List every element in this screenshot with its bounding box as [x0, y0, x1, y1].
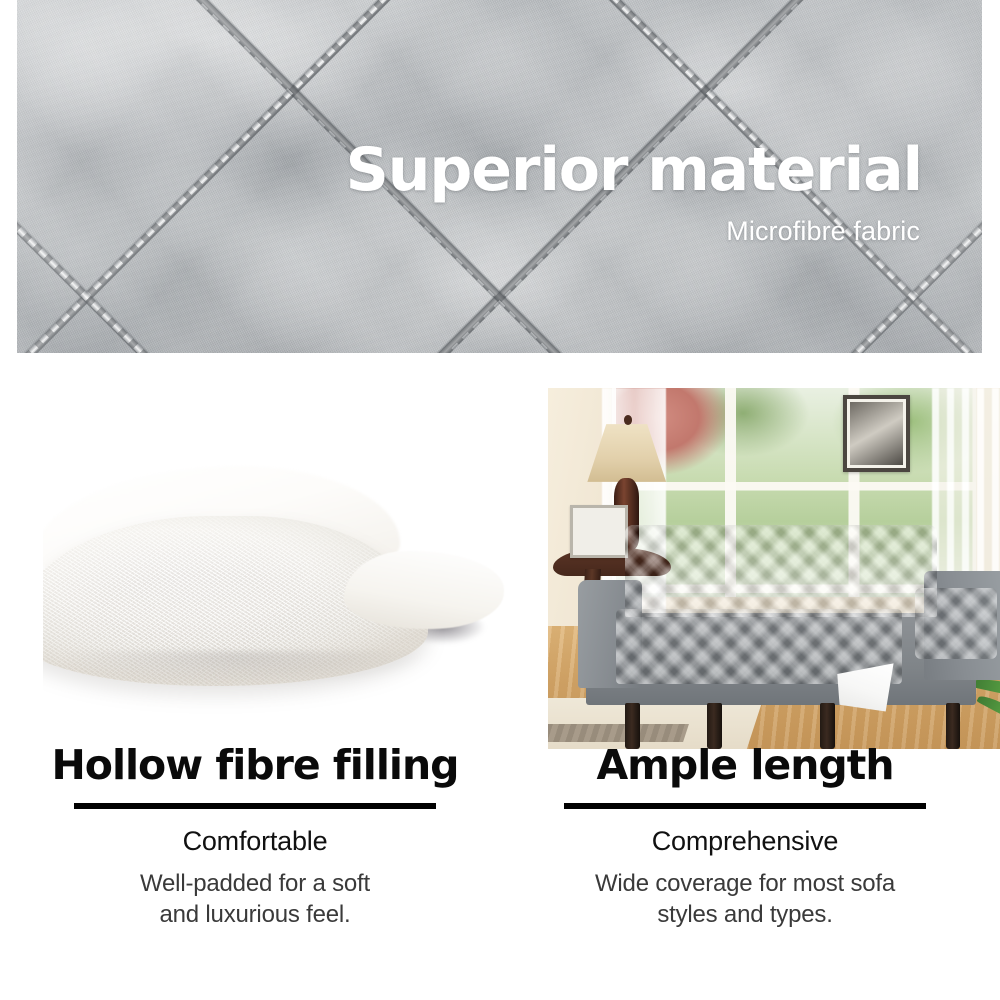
feature-subtitle: Comprehensive	[510, 827, 980, 857]
sofa-cover-arm-panel	[915, 588, 997, 659]
product-feature-page: Superior material Microfibre fabric	[0, 0, 1000, 1000]
sofa	[578, 525, 1000, 734]
hero-title: Superior material	[346, 140, 922, 200]
fibre-sheet-right-edge	[344, 551, 504, 629]
feature-block-ample-length: Ample length Comprehensive Wide coverage…	[510, 744, 980, 930]
feature-description-line: Well-padded for a soft	[140, 870, 370, 897]
hero-text-block: Superior material Microfibre fabric	[346, 140, 922, 245]
lamp-finial	[624, 415, 632, 424]
feature-divider-rule	[74, 803, 436, 809]
feature-block-hollow-fibre-filling: Hollow fibre filling Comfortable Well-pa…	[20, 744, 490, 930]
hero-banner: Superior material Microfibre fabric	[17, 0, 982, 353]
feature-title: Hollow fibre filling	[20, 744, 490, 787]
photo-row	[0, 372, 1000, 733]
sofa-cover-backrest	[625, 525, 937, 617]
sofa-cover-photo	[548, 388, 1000, 749]
feature-title: Ample length	[510, 744, 980, 787]
hero-subtitle: Microfibre fabric	[346, 218, 920, 245]
feature-description: Well-padded for a soft and luxurious fee…	[20, 869, 490, 930]
fibre-filling-photo	[43, 388, 513, 743]
feature-divider-rule	[564, 803, 926, 809]
sofa-leg	[946, 703, 961, 749]
fibre-ground-shadow	[62, 651, 419, 687]
feature-subtitle: Comfortable	[20, 827, 490, 857]
framed-wall-art	[843, 395, 910, 472]
feature-description-line: styles and types.	[657, 901, 832, 928]
feature-description-line: and luxurious feel.	[160, 901, 351, 928]
feature-description: Wide coverage for most sofa styles and t…	[510, 869, 980, 930]
feature-description-line: Wide coverage for most sofa	[595, 870, 895, 897]
